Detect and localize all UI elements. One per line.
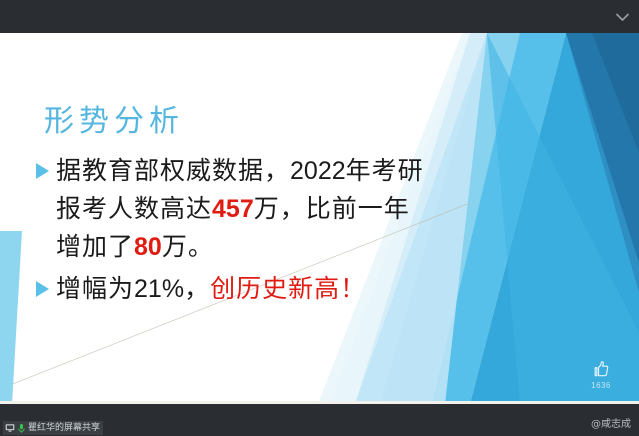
window-top-bar <box>0 0 639 33</box>
highlight-number: 80 <box>134 233 162 261</box>
triangle-bullet-icon <box>36 163 49 179</box>
paragraph-line: 据教育部权威数据，2022年考研 <box>34 152 504 190</box>
bullet-paragraph: 据教育部权威数据，2022年考研 报考人数高达457万，比前一年 增加了80万。 <box>34 152 504 266</box>
text-segment: 据教育部权威数据， <box>56 156 290 185</box>
text-segment: 年考研 <box>346 156 424 185</box>
microphone-icon <box>17 423 26 434</box>
slide-body: 据教育部权威数据，2022年考研 报考人数高达457万，比前一年 增加了80万。… <box>34 152 504 312</box>
paragraph-line: 报考人数高达457万，比前一年 <box>34 190 504 228</box>
monitor-icon <box>5 423 15 433</box>
triangle-bullet-icon <box>36 281 49 297</box>
bullet-paragraph: 增幅为21%，创历史新高！ <box>34 270 504 308</box>
text-segment-number: 2022 <box>290 157 346 185</box>
slide-title: 形势分析 <box>44 96 184 140</box>
meeting-screen-share-window: 形势分析 据教育部权威数据，2022年考研 报考人数高达457万，比前一年 增加… <box>0 0 639 436</box>
presentation-slide: 形势分析 据教育部权威数据，2022年考研 报考人数高达457万，比前一年 增加… <box>0 33 639 404</box>
owner-handle: @咸志成 <box>591 415 631 430</box>
text-segment-number: 21% <box>134 275 184 303</box>
text-segment: ， <box>184 274 210 303</box>
chevron-down-icon[interactable] <box>613 9 631 25</box>
like-count: 1636 <box>581 381 621 390</box>
highlight-phrase: 创历史新高！ <box>210 274 366 303</box>
paragraph-line: 增加了80万。 <box>34 228 504 266</box>
text-segment: 增幅为 <box>56 274 134 303</box>
window-bottom-bar: 瞿红华的屏幕共享 @咸志成 <box>0 404 639 436</box>
like-widget[interactable]: 1636 <box>581 359 621 390</box>
highlight-number: 457 <box>212 195 254 223</box>
paragraph-line: 增幅为21%，创历史新高！ <box>34 270 504 308</box>
thumbs-up-icon <box>591 359 611 379</box>
text-segment: 万，比前一年 <box>254 194 410 223</box>
screen-share-label: 瞿红华的屏幕共享 <box>28 421 100 435</box>
text-segment: 报考人数高达 <box>56 194 212 223</box>
text-segment: 增加了 <box>56 232 134 261</box>
screen-share-indicator[interactable]: 瞿红华的屏幕共享 <box>3 421 103 435</box>
text-segment: 万。 <box>162 232 214 261</box>
